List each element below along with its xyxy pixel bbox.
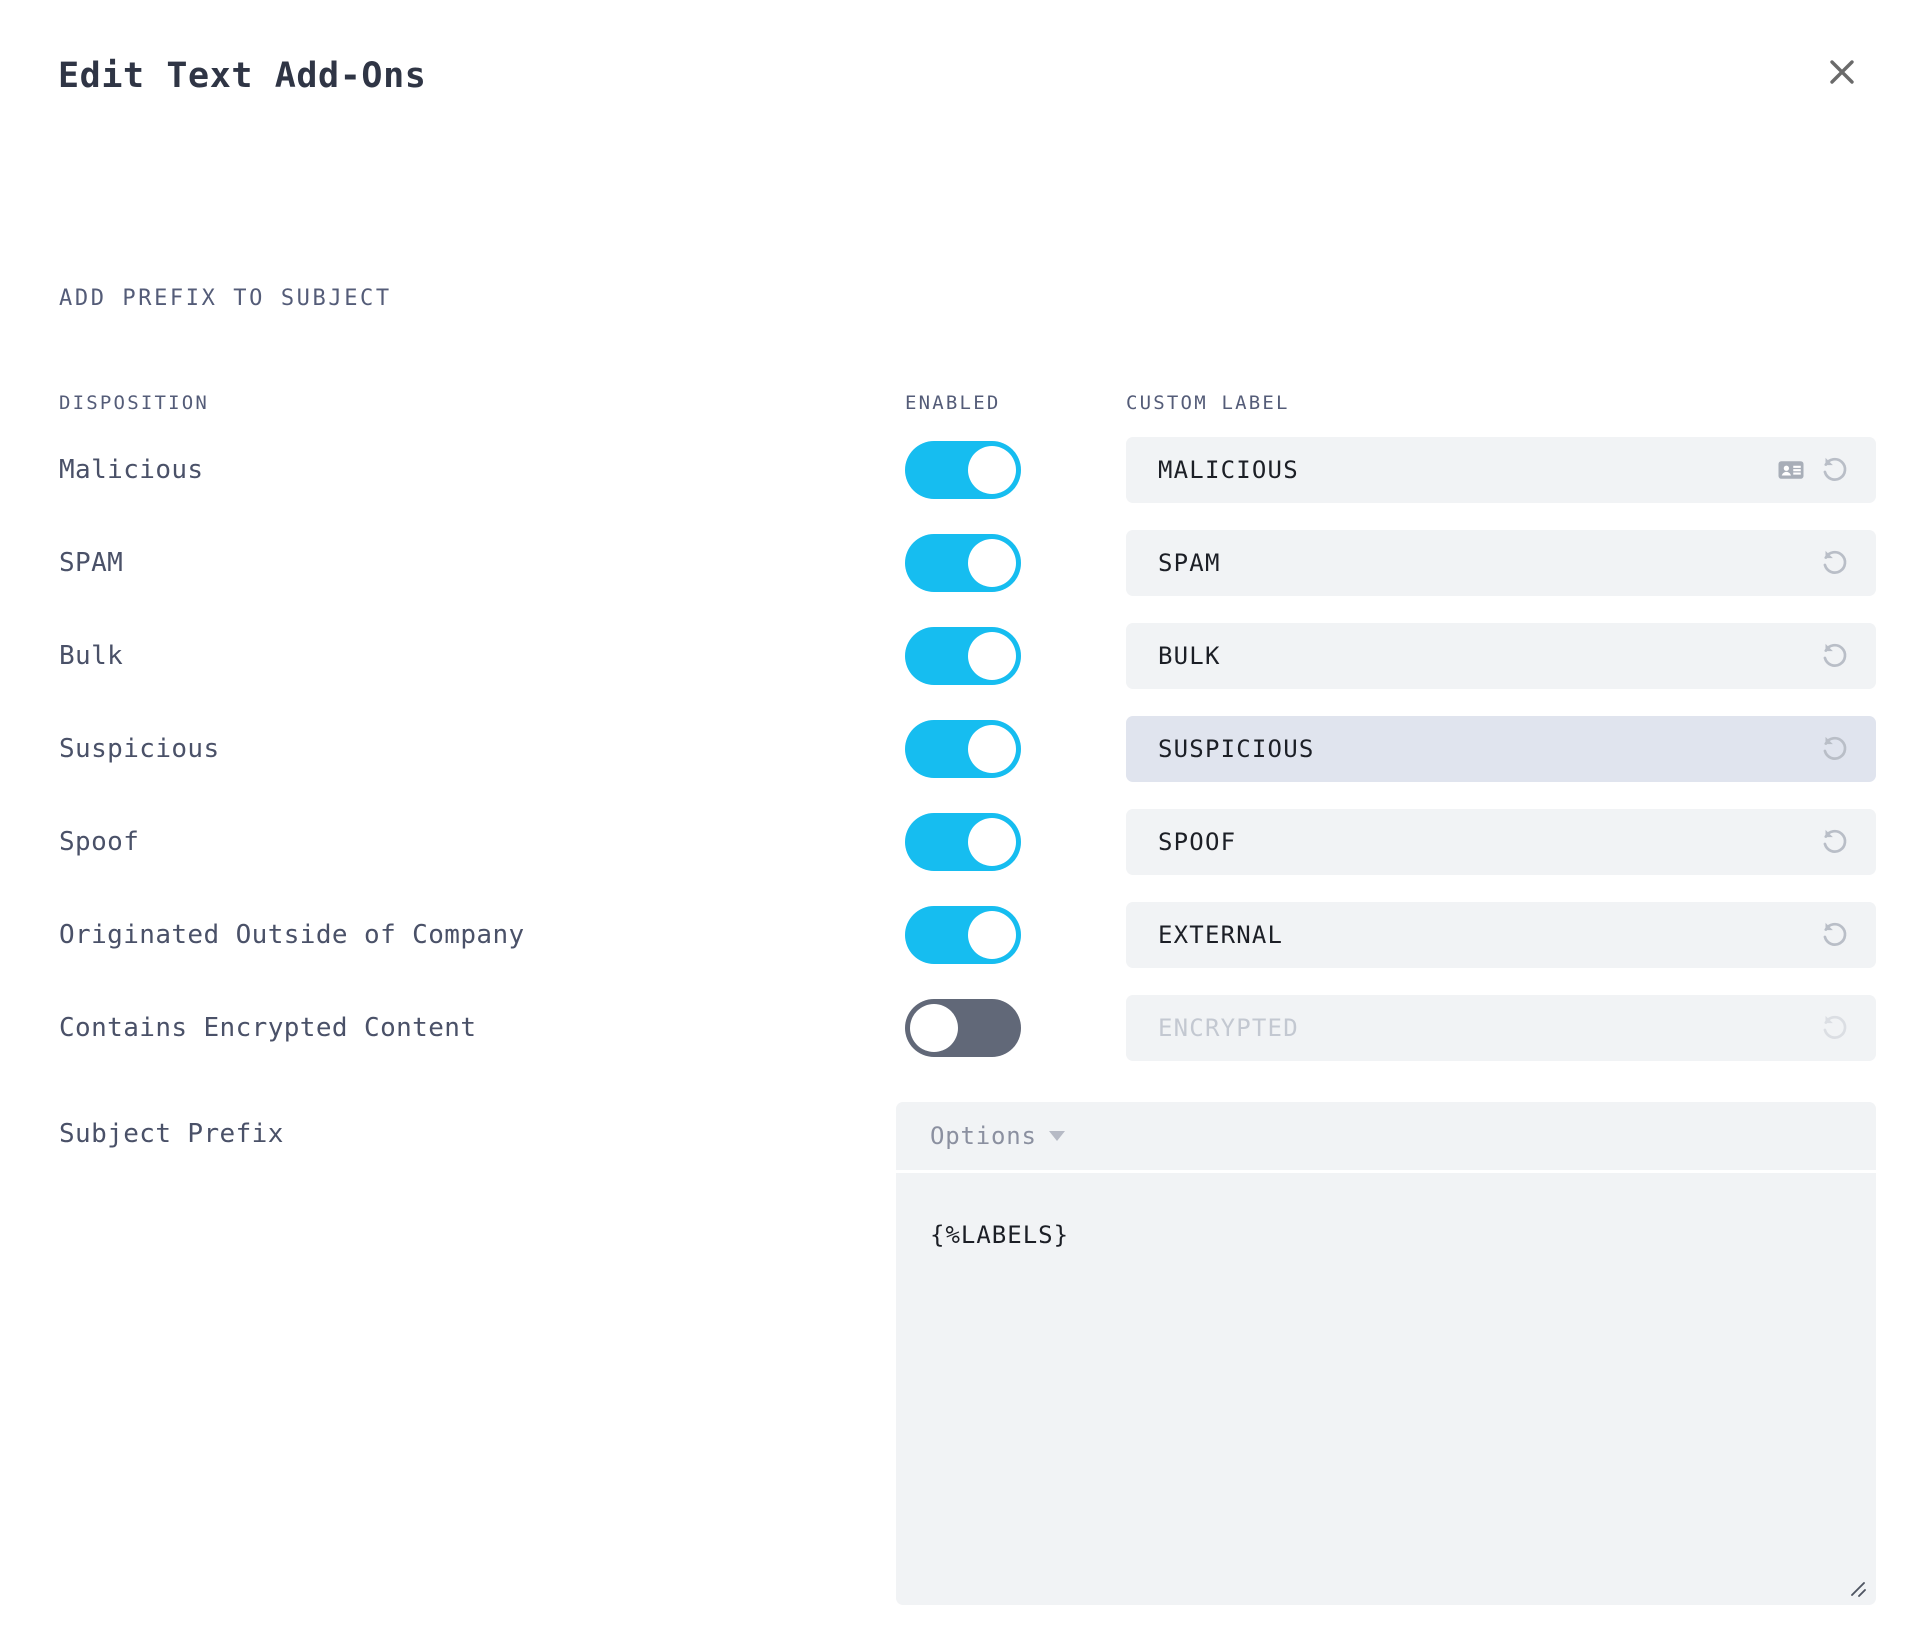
subject-prefix-editor: Options {%LABELS} — [896, 1102, 1876, 1605]
close-button[interactable] — [1814, 44, 1870, 100]
disposition-label: Malicious — [59, 455, 203, 485]
table-row: SuspiciousSUSPICIOUS — [0, 716, 1908, 782]
toggle-knob — [968, 911, 1016, 959]
toggle-knob — [968, 818, 1016, 866]
page-title: Edit Text Add-Ons — [58, 56, 426, 96]
column-header-custom-label: CUSTOM LABEL — [1126, 392, 1290, 414]
editor-toolbar: Options — [896, 1102, 1876, 1170]
custom-label-value: SUSPICIOUS — [1126, 735, 1818, 763]
field-icon-group — [1774, 453, 1876, 487]
reset-icon[interactable] — [1818, 639, 1852, 673]
custom-label-input[interactable]: EXTERNAL — [1126, 902, 1876, 968]
field-icon-group — [1818, 825, 1876, 859]
table-row: SpoofSPOOF — [0, 809, 1908, 875]
custom-label-input[interactable]: SPAM — [1126, 530, 1876, 596]
disposition-label: Bulk — [59, 641, 123, 671]
toggle-knob — [968, 725, 1016, 773]
enabled-toggle-malicious[interactable] — [905, 441, 1021, 499]
reset-icon[interactable] — [1818, 546, 1852, 580]
custom-label-value: EXTERNAL — [1126, 921, 1818, 949]
toggle-knob — [968, 446, 1016, 494]
custom-label-input[interactable]: SPOOF — [1126, 809, 1876, 875]
reset-icon[interactable] — [1818, 825, 1852, 859]
enabled-toggle-bulk[interactable] — [905, 627, 1021, 685]
table-row: Originated Outside of CompanyEXTERNAL — [0, 902, 1908, 968]
chevron-down-icon — [1049, 1131, 1065, 1141]
field-icon-group — [1818, 1011, 1876, 1045]
disposition-label: Contains Encrypted Content — [59, 1013, 476, 1043]
options-dropdown-label: Options — [930, 1122, 1037, 1150]
disposition-label: Spoof — [59, 827, 139, 857]
enabled-toggle-originated-outside-of-company[interactable] — [905, 906, 1021, 964]
options-dropdown[interactable]: Options — [930, 1122, 1065, 1150]
custom-label-value: SPAM — [1126, 549, 1818, 577]
table-row: MaliciousMALICIOUS — [0, 437, 1908, 503]
disposition-label: SPAM — [59, 548, 123, 578]
close-icon — [1825, 55, 1859, 89]
reset-icon[interactable] — [1818, 732, 1852, 766]
reset-icon[interactable] — [1818, 918, 1852, 952]
disposition-label: Suspicious — [59, 734, 220, 764]
table-row: BulkBULK — [0, 623, 1908, 689]
custom-label-input[interactable]: MALICIOUS — [1126, 437, 1876, 503]
toggle-knob — [910, 1004, 958, 1052]
custom-label-value: BULK — [1126, 642, 1818, 670]
custom-label-value: MALICIOUS — [1126, 456, 1774, 484]
custom-label-value: ENCRYPTED — [1126, 1014, 1818, 1042]
reset-icon — [1818, 1011, 1852, 1045]
custom-label-input[interactable]: BULK — [1126, 623, 1876, 689]
custom-label-value: SPOOF — [1126, 828, 1818, 856]
field-icon-group — [1818, 732, 1876, 766]
field-icon-group — [1818, 546, 1876, 580]
enabled-toggle-contains-encrypted-content[interactable] — [905, 999, 1021, 1057]
toggle-knob — [968, 539, 1016, 587]
edit-text-addons-dialog: Edit Text Add-Ons ADD PREFIX TO SUBJECT … — [0, 0, 1908, 1650]
table-row: SPAMSPAM — [0, 530, 1908, 596]
field-icon-group — [1818, 918, 1876, 952]
column-header-enabled: ENABLED — [905, 392, 1000, 414]
custom-label-input[interactable]: ENCRYPTED — [1126, 995, 1876, 1061]
toggle-knob — [968, 632, 1016, 680]
column-header-disposition: DISPOSITION — [59, 392, 209, 414]
section-heading-add-prefix-to-subject: ADD PREFIX TO SUBJECT — [59, 286, 392, 311]
subject-prefix-value: {%LABELS} — [930, 1221, 1069, 1249]
reset-icon[interactable] — [1818, 453, 1852, 487]
table-row: Contains Encrypted ContentENCRYPTED — [0, 995, 1908, 1061]
disposition-label: Originated Outside of Company — [59, 920, 525, 950]
custom-label-input[interactable]: SUSPICIOUS — [1126, 716, 1876, 782]
contact-card-icon[interactable] — [1774, 453, 1808, 487]
field-icon-group — [1818, 639, 1876, 673]
subject-prefix-label: Subject Prefix — [59, 1119, 284, 1149]
enabled-toggle-spoof[interactable] — [905, 813, 1021, 871]
enabled-toggle-suspicious[interactable] — [905, 720, 1021, 778]
enabled-toggle-spam[interactable] — [905, 534, 1021, 592]
resize-grip-icon[interactable] — [1844, 1575, 1868, 1599]
subject-prefix-textarea[interactable]: {%LABELS} — [896, 1173, 1876, 1605]
